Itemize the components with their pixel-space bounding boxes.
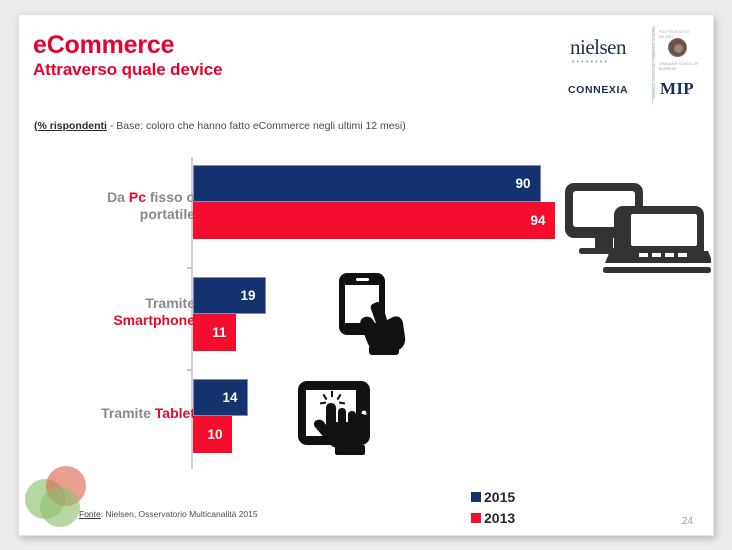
- nielsen-logo: nielsen: [570, 35, 626, 60]
- chart-legend: 2015 2013: [471, 489, 515, 531]
- category-label-smartphone: Tramite Smartphone: [35, 295, 195, 329]
- bar-value-pc-2015: 90: [515, 176, 530, 191]
- bar-value-pc-2013: 94: [530, 213, 545, 228]
- hand-tapping-tablet-icon: [295, 377, 379, 462]
- hand-tapping-smartphone-icon: [331, 271, 407, 362]
- desktop-and-laptop-icon: [561, 179, 711, 284]
- title-subtitle: Attraverso quale device: [33, 61, 223, 79]
- chart-basis-rest: - Base: coloro che hanno fatto eCommerce…: [107, 120, 406, 132]
- category-label-pc: Da Pc fisso o portatile: [35, 189, 195, 223]
- bar-pc-2013[interactable]: 94: [193, 202, 555, 239]
- axis-tick: [187, 267, 192, 269]
- axis-tick: [187, 369, 192, 371]
- bar-smartphone-2013[interactable]: 11: [193, 314, 236, 351]
- bar-value-tablet-2015: 14: [222, 390, 237, 405]
- category-label-pc-tail: fisso o: [146, 189, 195, 205]
- chart-basis-note: (% rispondenti - Base: coloro che hanno …: [34, 120, 406, 132]
- bar-chart: Da Pc fisso o portatile 90 94: [19, 155, 714, 485]
- bar-pc-2015[interactable]: 90: [193, 165, 541, 202]
- source-label: Fonte: [79, 509, 101, 519]
- category-label-smartphone-line2: Smartphone: [113, 312, 195, 328]
- logo-group: nielsen •••••••• CONNEXIA Business Schoo…: [568, 27, 698, 105]
- category-label-pc-highlight: Pc: [129, 189, 146, 205]
- politecnico-seal-icon: [668, 38, 687, 57]
- source-text: : Nielsen, Osservatorio Multicanalità 20…: [101, 509, 258, 519]
- slide-canvas: eCommerce Attraverso quale device (% ris…: [18, 14, 714, 536]
- legend-item-2013[interactable]: 2013: [471, 510, 515, 526]
- category-label-smartphone-line1: Tramite: [145, 295, 195, 311]
- category-label-pc-line2: portatile: [140, 206, 195, 222]
- bar-tablet-2013[interactable]: 10: [193, 416, 232, 453]
- page-number: 24: [682, 516, 693, 527]
- decorative-circles-logo: [25, 465, 97, 529]
- bar-value-tablet-2013: 10: [207, 427, 222, 442]
- category-label-tablet-plain: Tramite: [101, 405, 155, 421]
- source-note: Fonte: Nielsen, Osservatorio Multicanali…: [79, 509, 258, 519]
- bar-smartphone-2015[interactable]: 19: [193, 277, 266, 314]
- legend-swatch-2015-icon: [471, 492, 481, 502]
- bar-tablet-2015[interactable]: 14: [193, 379, 248, 416]
- bar-value-smartphone-2013: 11: [212, 325, 226, 340]
- category-label-tablet: Tramite Tablet: [35, 405, 195, 422]
- chart-basis-emphasis: (% rispondenti: [34, 120, 107, 132]
- connexia-logo: CONNEXIA: [568, 84, 628, 96]
- legend-swatch-2013-icon: [471, 513, 481, 523]
- legend-label-2015: 2015: [484, 489, 515, 505]
- mip-logo-block: POLITECNICO DI MILANO GRADUATE SCHOOL OF…: [652, 27, 698, 105]
- page-title: eCommerce Attraverso quale device: [33, 32, 223, 79]
- category-label-tablet-highlight: Tablet: [155, 405, 195, 421]
- legend-label-2013: 2013: [484, 510, 515, 526]
- legend-item-2015[interactable]: 2015: [471, 489, 515, 505]
- politecnico-bottom-text: GRADUATE SCHOOL OF BUSINESS: [659, 62, 699, 72]
- circle-green-bottom-icon: [40, 487, 80, 527]
- mip-logo: MIP: [660, 79, 694, 99]
- title-main: eCommerce: [33, 32, 223, 58]
- nielsen-logo-dots: ••••••••: [572, 59, 609, 66]
- category-label-pc-plain: Da: [107, 189, 129, 205]
- bar-value-smartphone-2015: 19: [240, 288, 255, 303]
